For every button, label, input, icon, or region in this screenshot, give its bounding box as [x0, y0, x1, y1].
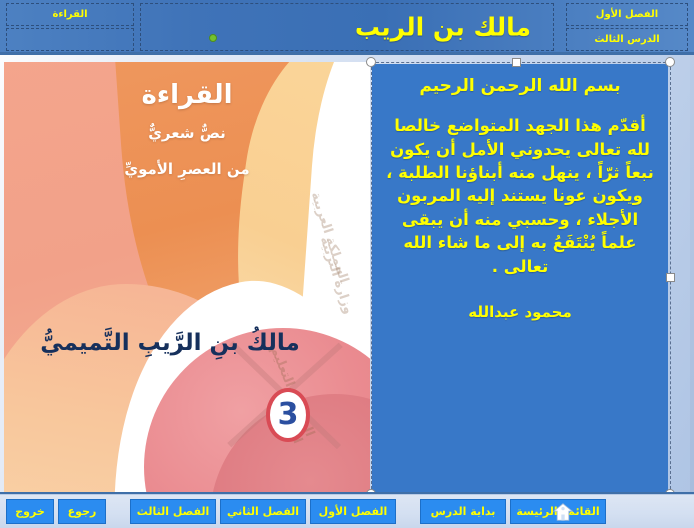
slide-right-rail — [690, 55, 694, 492]
cover-lesson-number: 3 — [278, 400, 299, 430]
cover-subtitle-line1: نصٌّ شعريٌّ — [4, 124, 370, 142]
presentation-slide: القراءة مالك بن الريب الفصل الأول الدرس … — [0, 0, 694, 528]
slide-header-band: القراءة مالك بن الريب الفصل الأول الدرس … — [0, 0, 694, 55]
header-lesson-box[interactable]: الدرس الثالث — [566, 28, 688, 51]
rotation-handle-icon[interactable] — [209, 34, 217, 42]
resize-handle-top-middle[interactable] — [512, 58, 521, 67]
dedication-body: أقدّم هذا الجهد المتواضع خالصا لله تعالى… — [386, 114, 654, 278]
chapter-3-button[interactable]: الفصل الثالث — [130, 499, 216, 524]
basmala-text: بسم الله الرحمن الرحيم — [386, 74, 654, 98]
header-lesson-label: الدرس الثالث — [567, 35, 687, 45]
header-title-box[interactable]: مالك بن الريب — [140, 3, 554, 51]
dedication-text-panel[interactable]: بسم الله الرحمن الرحيم أقدّم هذا الجهد ا… — [372, 64, 668, 492]
exit-button[interactable]: خروج — [6, 499, 54, 524]
header-subject-sub-box[interactable] — [6, 28, 134, 51]
page-title: مالك بن الريب — [355, 15, 531, 40]
chapter-1-button[interactable]: الفصل الأول — [310, 499, 396, 524]
book-cover-image[interactable]: المملكة العربية وزارة التربية التربية وا… — [4, 62, 370, 494]
cover-subject-title: القراءة — [4, 80, 370, 110]
author-signature: محمود عبدالله — [386, 302, 654, 323]
cover-lesson-number-badge: 3 — [266, 388, 310, 442]
back-button[interactable]: رجوع — [58, 499, 106, 524]
resize-handle-top-left[interactable] — [366, 57, 376, 67]
cover-subtitle-line2: من العصرِ الأمويِّ — [4, 160, 370, 178]
chapter-2-button[interactable]: الفصل الثاني — [220, 499, 306, 524]
resize-handle-top-right[interactable] — [665, 57, 675, 67]
header-subject-label: القراءة — [7, 10, 133, 20]
header-chapter-box[interactable]: الفصل الأول — [566, 3, 688, 26]
cover-poet-name: مالكُ بنِ الرَّيبِ التَّميميُّ — [20, 330, 320, 356]
header-subject-box[interactable]: القراءة — [6, 3, 134, 26]
main-menu-button[interactable]: القائمة الرئيسة — [510, 499, 606, 524]
header-chapter-label: الفصل الأول — [567, 10, 687, 20]
bottom-navigation-bar: خروج رجوع الفصل الثالث الفصل الثاني الفص… — [0, 494, 694, 528]
lesson-start-button[interactable]: بداية الدرس — [420, 499, 506, 524]
resize-handle-right-middle[interactable] — [666, 273, 675, 282]
